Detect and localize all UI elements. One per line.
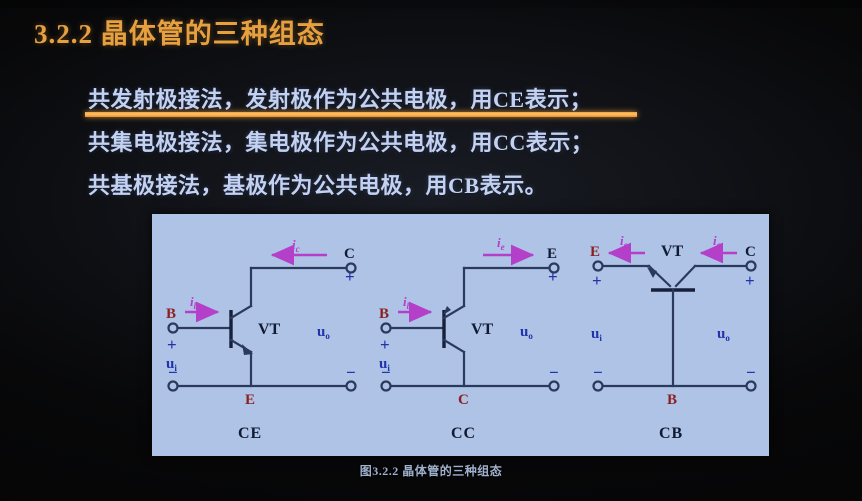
cb-output-minus: −	[746, 363, 756, 382]
cc-ie-label: ie	[497, 235, 505, 252]
body-line-3: 共基极接法，基极作为公共电极，用CB表示。	[88, 168, 547, 200]
ce-output-minus: −	[346, 363, 356, 382]
ce-ib-label: ib	[190, 294, 199, 311]
cc-ib-label: ib	[403, 294, 412, 311]
cc-uo-label: uo	[520, 324, 533, 341]
ce-ui-label: ui	[166, 356, 177, 373]
body-line-2: 共集电极接法，集电极作为公共电极，用CC表示；	[88, 125, 593, 157]
circuit-ce: ib ic B C E VT + − ui + − uo CE	[166, 237, 356, 442]
figure-panel: .w { stroke:#2b3a5c; stroke-width:2.2; f…	[152, 214, 769, 456]
slide-canvas: 3.2.2 晶体管的三种组态 共发射极接法，发射极作为公共电极，用CE表示； 共…	[0, 0, 862, 501]
ce-device-label: VT	[258, 321, 281, 338]
cc-ui-label: ui	[379, 356, 390, 373]
cc-output-plus: +	[548, 267, 558, 286]
circuit-cb: ie ic E C B VT + − ui + − uo CB	[590, 233, 756, 442]
ce-uo-label: uo	[317, 324, 330, 341]
body-line-1-underline	[85, 112, 637, 117]
figure-caption: 图3.2.2 晶体管的三种组态	[0, 462, 862, 479]
ce-terminal-b: B	[166, 306, 176, 322]
ce-terminal-e: E	[245, 392, 255, 408]
cc-caption: CC	[451, 425, 476, 442]
cb-ic-label: ic	[713, 233, 721, 250]
body-line-1: 共发射极接法，发射极作为公共电极，用CE表示；	[88, 82, 592, 114]
cb-ie-label: ie	[620, 233, 628, 250]
cb-terminal-c: C	[745, 244, 756, 260]
cb-output-plus: +	[745, 271, 755, 290]
cc-terminal-e: E	[547, 246, 557, 262]
circuit-diagram: .w { stroke:#2b3a5c; stroke-width:2.2; f…	[152, 214, 769, 456]
ce-terminal-c: C	[344, 246, 355, 262]
ce-caption: CE	[238, 425, 262, 442]
cb-uo-label: uo	[717, 326, 730, 343]
ce-output-plus: +	[345, 267, 355, 286]
cc-terminal-c: C	[458, 392, 469, 408]
cb-terminal-e: E	[590, 244, 600, 260]
cb-ui-label: ui	[591, 326, 602, 343]
cb-input-minus: −	[593, 363, 603, 382]
cc-output-minus: −	[549, 363, 559, 382]
circuit-cc: ib ie B E C VT + − ui + − uo CC	[379, 235, 559, 442]
cb-terminal-b: B	[667, 392, 677, 408]
cc-input-plus: +	[380, 335, 390, 354]
cb-caption: CB	[659, 425, 683, 442]
cc-device-label: VT	[471, 321, 494, 338]
cb-input-plus: +	[592, 271, 602, 290]
page-title: 3.2.2 晶体管的三种组态	[34, 12, 325, 51]
ce-input-plus: +	[167, 335, 177, 354]
top-letterbox-band	[0, 0, 862, 8]
cc-terminal-b: B	[379, 306, 389, 322]
cb-device-label: VT	[661, 243, 684, 260]
ce-ic-label: ic	[292, 237, 300, 254]
